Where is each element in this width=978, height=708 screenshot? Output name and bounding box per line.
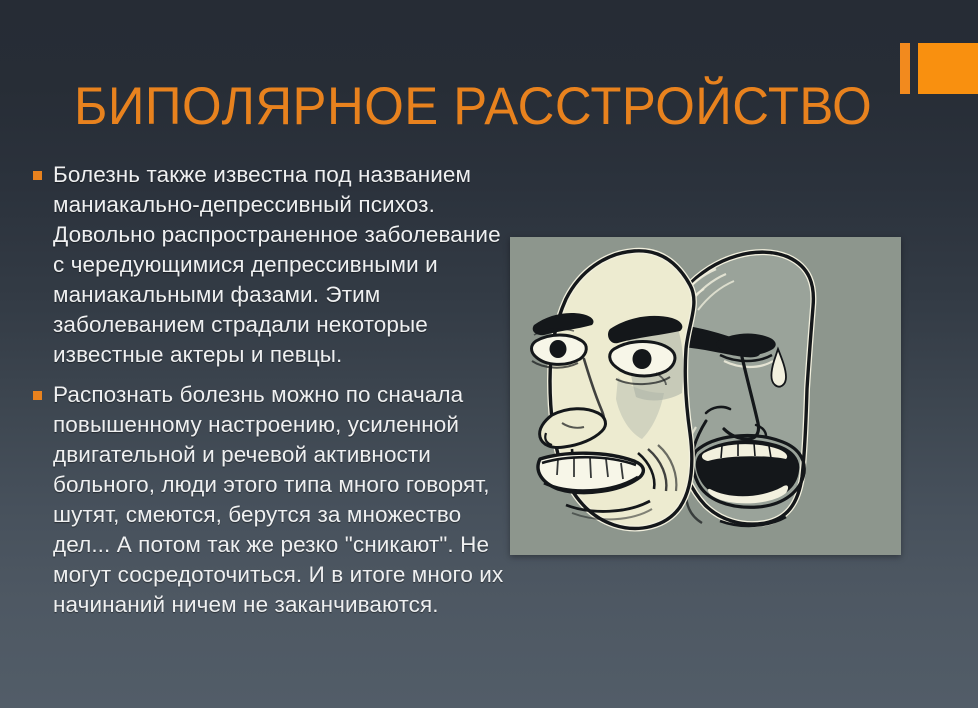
page-title: БИПОЛЯРНОЕ РАССТРОЙСТВО <box>74 78 861 136</box>
left-pupil <box>550 340 567 358</box>
list-item: Болезнь также известна под названием ман… <box>24 160 504 370</box>
bullet-square-icon <box>33 171 42 180</box>
list-item: Распознать болезнь можно по сначала повы… <box>24 380 504 620</box>
orange-block-icon <box>918 43 978 94</box>
bullet-list: Болезнь также известна под названием ман… <box>24 160 504 630</box>
two-faces-illustration-svg <box>510 237 901 555</box>
orange-decoration <box>900 43 978 94</box>
right-pupil <box>633 349 652 369</box>
two-faces-illustration <box>510 237 901 555</box>
bullet-text: Болезнь также известна под названием ман… <box>53 160 504 370</box>
bullet-text: Распознать болезнь можно по сначала повы… <box>53 380 504 620</box>
bullet-square-icon <box>33 391 42 400</box>
orange-thin-bar-icon <box>900 43 910 94</box>
presentation-slide: БИПОЛЯРНОЕ РАССТРОЙСТВО Болезнь также из… <box>0 0 978 708</box>
